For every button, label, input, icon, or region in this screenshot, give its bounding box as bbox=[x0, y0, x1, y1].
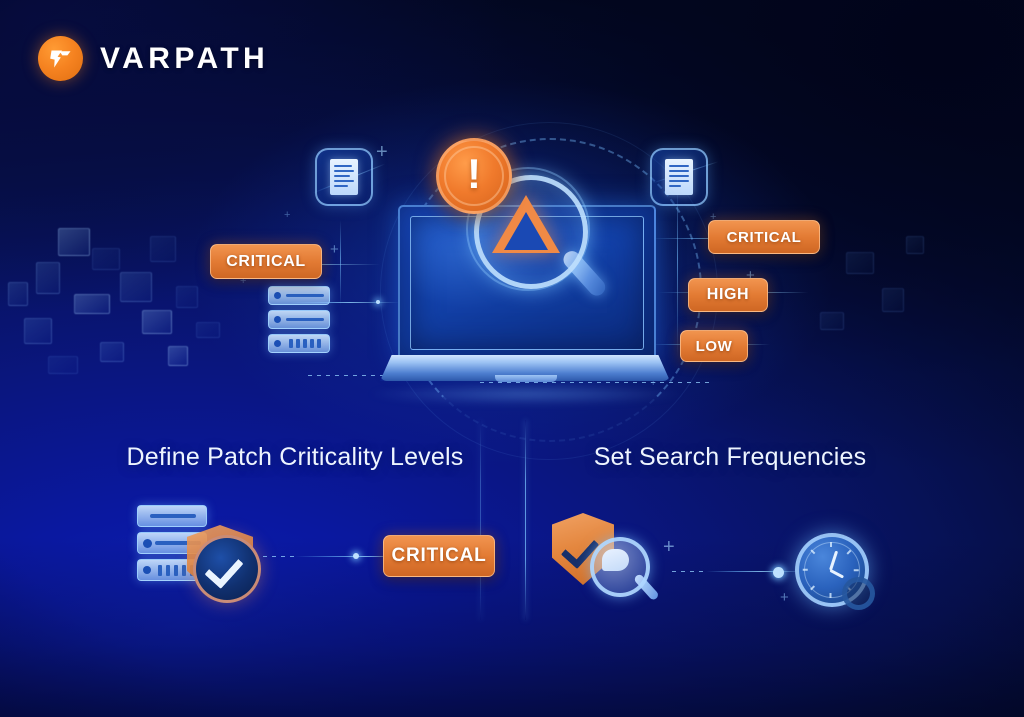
badge-critical-left[interactable]: CRITICAL bbox=[210, 244, 322, 279]
connector-line bbox=[706, 571, 806, 572]
badge-critical-right[interactable]: CRITICAL bbox=[708, 220, 820, 254]
plus-marker-icon: + bbox=[376, 142, 388, 162]
connector-dashes bbox=[672, 571, 708, 572]
clock-bell-icon bbox=[842, 577, 875, 610]
plus-marker-icon: + bbox=[284, 210, 290, 221]
infographic-canvas: VARPATH + + + + + + + + bbox=[0, 0, 1024, 717]
badge-label: CRITICAL bbox=[391, 545, 486, 567]
document-lines-icon bbox=[650, 148, 708, 206]
connector-node bbox=[353, 553, 359, 559]
panel-define-patch-criticality[interactable]: Define Patch Criticality Levels bbox=[95, 425, 495, 640]
plus-marker-icon: + bbox=[330, 242, 339, 257]
checklist-document-icon bbox=[315, 148, 373, 206]
plus-marker-icon: + bbox=[780, 590, 789, 605]
brand-logo[interactable]: VARPATH bbox=[38, 36, 269, 81]
server-stack-icon bbox=[268, 286, 330, 358]
connector-line-left-vertical bbox=[340, 220, 341, 306]
badge-label: CRITICAL bbox=[727, 229, 802, 246]
plus-marker-icon: + bbox=[663, 537, 675, 557]
hero-illustration: + + + + + + + + bbox=[180, 120, 860, 420]
panel-set-search-frequencies[interactable]: Set Search Frequencies + + bbox=[530, 425, 930, 640]
badge-critical[interactable]: CRITICAL bbox=[383, 535, 495, 577]
panels-row: Define Patch Criticality Levels bbox=[95, 425, 930, 640]
check-mark-icon bbox=[204, 549, 243, 589]
badge-low[interactable]: LOW bbox=[680, 330, 748, 362]
alert-glyph: ! bbox=[439, 153, 509, 195]
panel-divider bbox=[525, 420, 526, 620]
connector-node bbox=[773, 567, 784, 578]
badge-label: LOW bbox=[696, 338, 733, 355]
panel-title: Set Search Frequencies bbox=[530, 443, 930, 472]
badge-high[interactable]: HIGH bbox=[688, 278, 768, 312]
document-page bbox=[665, 159, 693, 195]
badge-label: HIGH bbox=[707, 286, 749, 304]
document-page bbox=[330, 159, 358, 195]
magnifier-icon[interactable] bbox=[590, 537, 652, 599]
shield-check-icon[interactable] bbox=[193, 535, 261, 603]
exclamation-alert-icon: ! bbox=[436, 138, 512, 214]
badge-label: CRITICAL bbox=[226, 253, 305, 271]
panel-title: Define Patch Criticality Levels bbox=[95, 443, 495, 472]
connector-dashes bbox=[263, 556, 297, 557]
varpath-bird-logomark-icon bbox=[38, 36, 83, 81]
brand-name: VARPATH bbox=[100, 42, 269, 76]
